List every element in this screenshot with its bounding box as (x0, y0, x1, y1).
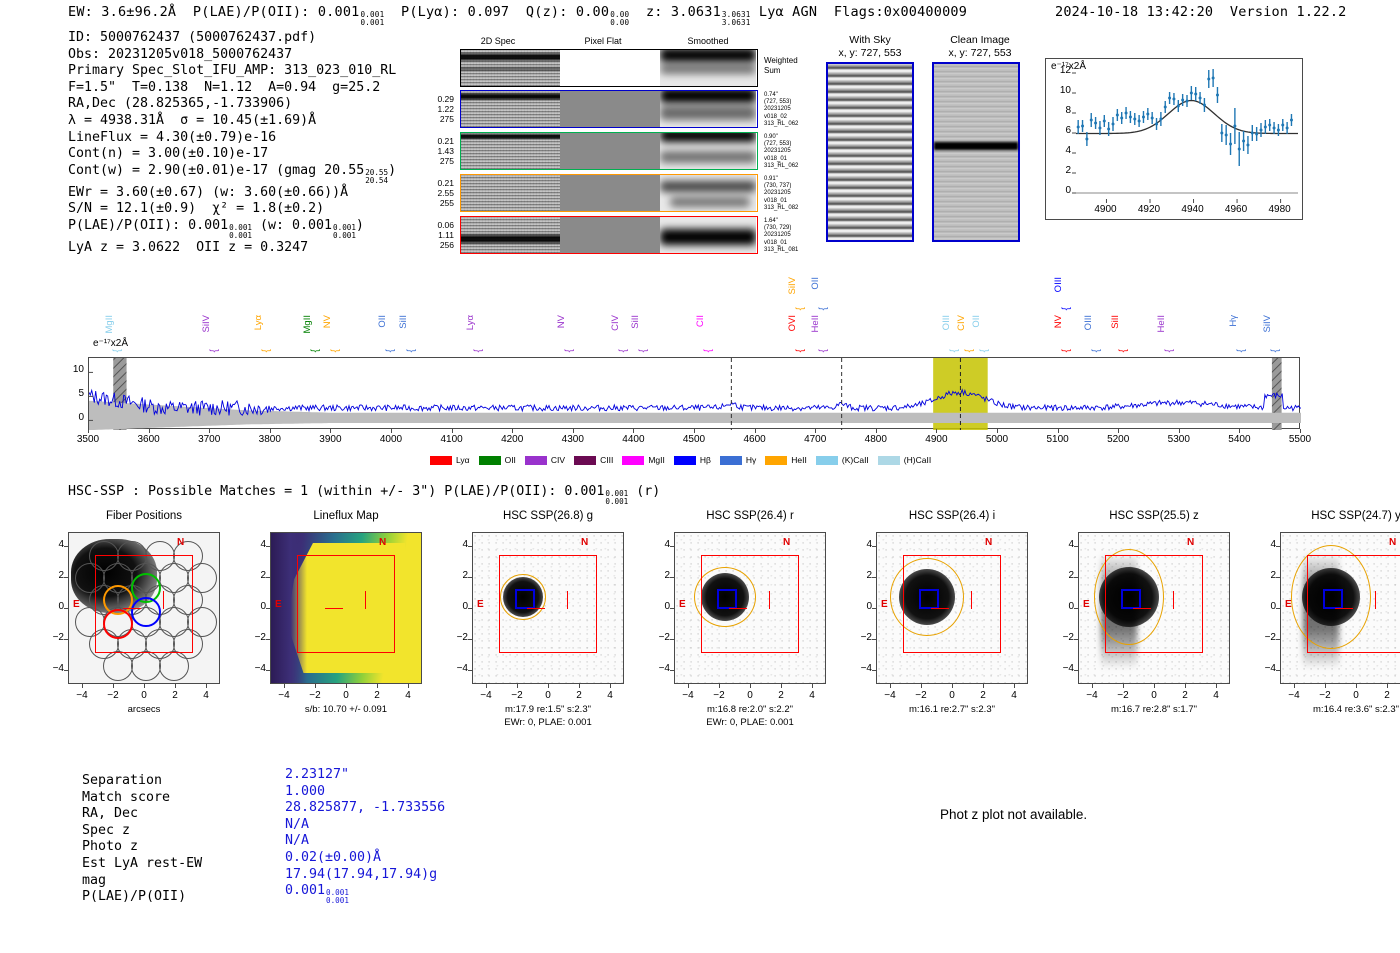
panel-2-ytickmark-2 (468, 577, 472, 578)
spectrum-xtick-5000: 5000 (972, 434, 1022, 445)
legend-swatch-0 (430, 456, 452, 465)
legend-label-6: Hγ (746, 455, 756, 465)
match-table-label-0: Separation (82, 773, 202, 790)
panel-caption-6: m:16.4 re:3.6" s:2.3" (1256, 704, 1400, 716)
panel-3-xtick-0: 0 (736, 690, 764, 701)
panel-5-ytick-0: 0 (1054, 601, 1074, 612)
panel-redtick-h-2 (527, 608, 545, 609)
legend-label-8: (K)CaII (842, 455, 869, 465)
emission-line-brace-4: { (330, 349, 341, 352)
panel-1-xtick--2: −2 (301, 690, 329, 701)
imaging-panel-6[interactable]: NE (1280, 532, 1400, 684)
match-table-value-0: 2.23127" (285, 767, 445, 784)
cutout-clean-image-title: Clean Imagex, y: 727, 553 (925, 34, 1035, 59)
zoom-ytick-4: 4 (1043, 145, 1071, 156)
panel-5-ytick--2: −2 (1054, 632, 1074, 643)
spectrum-xtick-4800: 4800 (851, 434, 901, 445)
emission-line-label-siii-6: SiII (398, 315, 409, 329)
spectrum-xtickmark-4300 (573, 429, 574, 433)
panel-title-2: HSC SSP(26.8) g (450, 510, 646, 522)
spectrum-xtick-5500: 5500 (1275, 434, 1325, 445)
info-plae-w-range: 0.0010.001 (333, 224, 356, 240)
spectrum-xtickmark-4800 (876, 429, 877, 433)
panel-5-xtickmark-4 (1216, 684, 1217, 688)
panel-4-xtickmark-2 (983, 684, 984, 688)
panel-1-ytick--2: −2 (246, 632, 266, 643)
match-table-value-2: 28.825877, -1.733556 (285, 800, 445, 817)
emission-line-label-oiii-21: OIII (1083, 315, 1094, 330)
hsc-ssp-header: HSC-SSP : Possible Matches = 1 (within +… (68, 484, 660, 506)
panel-6-xtickmark--2 (1325, 684, 1326, 688)
spectrum-xtickmark-5400 (1239, 429, 1240, 433)
legend-swatch-1 (479, 456, 501, 465)
spectrum-units-annotation: e⁻¹⁷x2Å (93, 338, 128, 349)
header-timestamp-block: 2024-10-18 13:42:20 Version 1.22.2 (1055, 4, 1346, 20)
panel-redtick-v-5 (1173, 591, 1174, 609)
legend-label-9: (H)CaII (904, 455, 931, 465)
emission-line-label-oii-18: OII (971, 315, 982, 328)
spectrum-xtick-4600: 4600 (730, 434, 780, 445)
panel-5-xtickmark--2 (1123, 684, 1124, 688)
spectrum-xtick-4200: 4200 (487, 434, 537, 445)
zoom-ytick-6: 6 (1043, 125, 1071, 136)
panel-redbox-0 (95, 555, 193, 653)
panel-redbox-2 (499, 555, 597, 653)
panel-1-xtickmark-2 (377, 684, 378, 688)
panel-2-ytickmark-0 (468, 608, 472, 609)
legend-swatch-5 (674, 456, 696, 465)
spec2d-col-title-pixelflat: Pixel Flat (553, 36, 653, 46)
info-lineflux: LineFlux = 4.30(±0.79)e-16 (68, 130, 396, 147)
emission-line-brace-20: { (1061, 349, 1072, 352)
panel-5-xtick-4: 4 (1202, 690, 1230, 701)
spec2d-row-2-meta: 0.91"(730, 737)20231205v018_01313_RL_082 (764, 176, 808, 212)
imaging-panel-5[interactable]: NE (1078, 532, 1230, 684)
panel-3-xtick--2: −2 (705, 690, 733, 701)
panel-0-xtickmark--4 (82, 684, 83, 688)
info-id: ID: 5000762437 (5000762437.pdf) (68, 30, 396, 47)
panel-6-xtickmark--4 (1294, 684, 1295, 688)
spectrum-xtick-3700: 3700 (184, 434, 234, 445)
panel-1-ytickmark-0 (266, 608, 270, 609)
panel-3-ytickmark-2 (670, 577, 674, 578)
emission-line-label-oiii-16: OIII (941, 315, 952, 330)
spec2d-row-2-values: 0.212.55255 (418, 178, 454, 208)
zoom-xtick-4920: 4920 (1127, 204, 1171, 215)
panel-0-xtick--2: −2 (99, 690, 127, 701)
emission-line-label-lyα-7: Lyα (465, 315, 476, 330)
panel-compass-e-2: E (477, 599, 484, 610)
panel-5-ytickmark-2 (1074, 577, 1078, 578)
fiber-circle-24 (159, 651, 189, 681)
panel-2-xtick-2: 2 (565, 690, 593, 701)
spectrum-xtickmark-4200 (512, 429, 513, 433)
panel-2-xtickmark-0 (548, 684, 549, 688)
panel-redtick-v-4 (971, 591, 972, 609)
spectrum-xtickmark-4700 (815, 429, 816, 433)
panel-6-xtick-2: 2 (1373, 690, 1400, 701)
panel-6-ytick--4: −4 (1256, 663, 1276, 674)
spec2d-row-2 (460, 174, 758, 212)
zoom-ytick-8: 8 (1043, 105, 1071, 116)
panel-5-ytick-4: 4 (1054, 539, 1074, 550)
header-qz-range: 0.000.00 (610, 11, 629, 27)
panel-caption2-2: EWr: 0, PLAE: 0.001 (448, 717, 648, 729)
panel-2-ytickmark--4 (468, 670, 472, 671)
spec2d-row-0-pixelflat (560, 91, 660, 127)
emission-line-zoom-plot[interactable]: e⁻¹⁷x2Å (1045, 58, 1303, 220)
header-plya: P(Lyα): 0.097 (401, 4, 509, 20)
panel-compass-n-3: N (783, 537, 790, 548)
info-ewr: EWr = 3.60(±0.67) (w: 3.60(±0.66))Å (68, 185, 396, 202)
panel-4-ytick-2: 2 (852, 570, 872, 581)
spec2d-ws-2dspec (461, 50, 560, 86)
spectrum-xtick-4000: 4000 (366, 434, 416, 445)
panel-5-ytickmark-0 (1074, 608, 1078, 609)
panel-2-xtickmark-2 (579, 684, 580, 688)
panel-caption-4: m:16.1 re:2.7" s:2.3" (852, 704, 1052, 716)
spec2d-row-0 (460, 90, 758, 128)
spec2d-row-2-smoothed (660, 175, 756, 211)
emission-line-label-siii-22: SiII (1110, 315, 1121, 329)
panel-0-ytickmark-4 (64, 546, 68, 547)
emission-line-label-heii-15: HeII (810, 315, 821, 332)
legend-item-h: Hγ (720, 455, 756, 465)
imaging-panel-1[interactable]: NE (270, 532, 422, 684)
imaging-panel-2[interactable]: NE (472, 532, 624, 684)
match-table-labels: SeparationMatch scoreRA, DecSpec zPhoto … (82, 773, 202, 906)
panel-3-xtickmark-0 (750, 684, 751, 688)
spec2d-row-2-2dspec (461, 175, 560, 211)
match-table-value-1: 1.000 (285, 784, 445, 801)
emission-line-label-lyα-2: Lyα (253, 315, 264, 330)
panel-5-ytick--4: −4 (1054, 663, 1074, 674)
legend-item-h: Hβ (674, 455, 711, 465)
spectrum-xtickmark-4100 (452, 429, 453, 433)
panel-compass-n-0: N (177, 537, 184, 548)
panel-redtick-h-4 (931, 608, 949, 609)
panel-6-ytickmark--2 (1276, 639, 1280, 640)
info-plae-poii: P(LAE)/P(OII): 0.0010.0010.001 (w: 0.001… (68, 218, 396, 240)
panel-2-ytick--2: −2 (448, 632, 468, 643)
panel-1-xtick-2: 2 (363, 690, 391, 701)
panel-1-ytickmark-4 (266, 546, 270, 547)
photz-not-available-note: Phot z plot not available. (940, 807, 1087, 822)
emission-line-brace-3: { (310, 349, 321, 352)
emission-line-brace-23: { (1164, 349, 1175, 352)
panel-2-ytickmark--2 (468, 639, 472, 640)
header-plae-poii: P(LAE)/P(OII): 0.001 (193, 4, 360, 20)
spectrum-xtickmark-4600 (755, 429, 756, 433)
emission-line-brace-12: { (795, 307, 806, 310)
spec2d-row-3-pixelflat (560, 217, 660, 253)
imaging-panel-3[interactable]: NE (674, 532, 826, 684)
panel-1-ytickmark--2 (266, 639, 270, 640)
panel-redbox-4 (903, 555, 1001, 653)
spectrum-ytick-10: 10 (60, 364, 84, 375)
panel-title-1: Lineflux Map (248, 510, 444, 522)
panel-4-ytick--2: −2 (852, 632, 872, 643)
panel-3-xtickmark--2 (719, 684, 720, 688)
legend-item-heii: HeII (765, 455, 807, 465)
emission-line-legend: LyαOIICIVCIIIMgIIHβHγHeII(K)CaII(H)CaII (430, 455, 940, 465)
emission-line-brace-17: { (964, 349, 975, 352)
header-plae-poii-range: 0.0010.001 (360, 11, 384, 27)
spec2d-row-0-smoothed (660, 91, 756, 127)
legend-item-kcaii: (K)CaII (816, 455, 869, 465)
panel-compass-e-6: E (1285, 599, 1292, 610)
panel-1-xtickmark--2 (315, 684, 316, 688)
panel-redtick-v-0 (163, 591, 164, 609)
panel-5-ytickmark-4 (1074, 546, 1078, 547)
panel-0-ytickmark-2 (64, 577, 68, 578)
legend-swatch-2 (525, 456, 547, 465)
match-table-label-2: RA, Dec (82, 806, 202, 823)
panel-6-ytickmark-0 (1276, 608, 1280, 609)
panel-1-xtick-4: 4 (394, 690, 422, 701)
spec2d-weighted-sum-row (460, 49, 758, 87)
legend-item-ciii: CIII (574, 455, 613, 465)
panel-5-xtickmark-0 (1154, 684, 1155, 688)
spec2d-row-3-2dspec (461, 217, 560, 253)
spectrum-xtick-4500: 4500 (669, 434, 719, 445)
panel-compass-n-6: N (1389, 537, 1396, 548)
panel-redtick-h-3 (729, 608, 747, 609)
panel-6-xtick-0: 0 (1342, 690, 1370, 701)
panel-1-ytick--4: −4 (246, 663, 266, 674)
panel-redtick-h-1 (325, 608, 343, 609)
emission-line-brace-1: { (209, 349, 220, 352)
panel-2-ytick-0: 0 (448, 601, 468, 612)
panel-redtick-h-0 (123, 608, 141, 609)
panel-1-xtick-0: 0 (332, 690, 360, 701)
header-qz: Q(z): 0.00 (526, 4, 609, 20)
match-table-label-7: P(LAE)/P(OII) (82, 889, 202, 906)
header-z: z: 3.0631 (646, 4, 721, 20)
spec2d-row-1-values: 0.211.43275 (418, 136, 454, 166)
emission-line-brace-10: { (638, 349, 649, 352)
legend-swatch-7 (765, 456, 787, 465)
panel-4-xtickmark--2 (921, 684, 922, 688)
spectrum-xtick-5400: 5400 (1214, 434, 1264, 445)
panel-2-ytick--4: −4 (448, 663, 468, 674)
panel-1-xtickmark-0 (346, 684, 347, 688)
spectrum-xtick-4400: 4400 (608, 434, 658, 445)
panel-6-xtick--2: −2 (1311, 690, 1339, 701)
panel-compass-e-4: E (881, 599, 888, 610)
panel-5-xtick--2: −2 (1109, 690, 1137, 701)
legend-swatch-8 (816, 456, 838, 465)
panel-compass-n-5: N (1187, 537, 1194, 548)
panel-1-ytick-2: 2 (246, 570, 266, 581)
panel-redtick-h-6 (1335, 608, 1353, 609)
zoom-ytick-10: 10 (1043, 85, 1071, 96)
panel-0-ytick-4: 4 (44, 539, 64, 550)
panel-3-ytickmark-0 (670, 608, 674, 609)
info-snr-chi2: S/N = 12.1(±0.9) χ² = 1.8(±0.2) (68, 201, 396, 218)
spectrum-xtick-4900: 4900 (911, 434, 961, 445)
panel-6-xtickmark-2 (1387, 684, 1388, 688)
panel-3-xtick--4: −4 (674, 690, 702, 701)
emission-line-label-siiv-25: SiIV (1262, 315, 1273, 332)
zoom-xtick-4980: 4980 (1258, 204, 1302, 215)
emission-line-label-nv-20: NV (1053, 315, 1064, 328)
panel-0-ytick--4: −4 (44, 663, 64, 674)
panel-0-xtickmark-0 (144, 684, 145, 688)
emission-line-brace-21: { (1091, 349, 1102, 352)
panel-4-ytickmark--2 (872, 639, 876, 640)
panel-4-xtick-2: 2 (969, 690, 997, 701)
fiber-circle-23 (131, 651, 161, 681)
header-timestamp: 2024-10-18 13:42:20 (1055, 4, 1213, 20)
spectrum-xtick-3900: 3900 (305, 434, 355, 445)
legend-label-3: CIII (600, 455, 613, 465)
spec2d-weighted-sum-label: WeightedSum (764, 56, 804, 75)
info-seeing-params: F=1.5" T=0.138 N=1.12 A=0.94 g=25.2 (68, 80, 396, 97)
spec2d-row-0-values: 0.291.22275 (418, 94, 454, 124)
panel-5-ytick-2: 2 (1054, 570, 1074, 581)
panel-caption-1: s/b: 10.70 +/- 0.091 (246, 704, 446, 716)
info-plae-range: 0.0010.001 (229, 224, 252, 240)
imaging-panel-4[interactable]: NE (876, 532, 1028, 684)
imaging-panel-0[interactable]: NE (68, 532, 220, 684)
info-wavelength-sigma: λ = 4938.31Å σ = 10.45(±1.69)Å (68, 113, 396, 130)
panel-caption-0: arcsecs (44, 704, 244, 716)
spec2d-col-title-smoothed: Smoothed (658, 36, 758, 46)
panel-4-ytickmark--4 (872, 670, 876, 671)
panel-redtick-v-2 (567, 591, 568, 609)
panel-redbox-3 (701, 555, 799, 653)
panel-redbox-6 (1307, 555, 1400, 653)
panel-6-ytickmark--4 (1276, 670, 1280, 671)
spectrum-xtickmark-3800 (270, 429, 271, 433)
spec2d-row-1-meta: 0.90"(727, 553)20231205v018_01313_RL_062 (764, 134, 808, 170)
panel-redtick-v-3 (769, 591, 770, 609)
full-spectrum-plot[interactable]: e⁻¹⁷x2Å (88, 357, 1300, 429)
header-z-range: 3.06313.0631 (722, 11, 751, 27)
panel-caption-5: m:16.7 re:2.8" s:1.7" (1054, 704, 1254, 716)
emission-line-brace-0: { (112, 349, 123, 352)
spec2d-row-3-values: 0.061.11256 (418, 220, 454, 250)
panel-3-xtickmark-2 (781, 684, 782, 688)
match-table-plae-lo: 0.001 (326, 897, 349, 905)
legend-label-1: OII (505, 455, 516, 465)
spec2d-panel: 2D Spec Pixel Flat Smoothed WeightedSum … (420, 36, 760, 251)
spectrum-xtick-5300: 5300 (1154, 434, 1204, 445)
emission-line-label-mgii-3: MgII (302, 315, 313, 333)
panel-2-xtick-0: 0 (534, 690, 562, 701)
spec2d-col-title-2dspec: 2D Spec (448, 36, 548, 46)
legend-item-hcaii: (H)CaII (878, 455, 931, 465)
panel-4-ytick-4: 4 (852, 539, 872, 550)
panel-4-xtick-4: 4 (1000, 690, 1028, 701)
spec2d-row-3-smoothed (660, 217, 756, 253)
match-table-value-4: N/A (285, 833, 445, 850)
emission-line-label-mgii-0: MgII (104, 315, 115, 333)
panel-2-xtick--4: −4 (472, 690, 500, 701)
panel-2-xtick-4: 4 (596, 690, 624, 701)
spectrum-xtickmark-4500 (694, 429, 695, 433)
emission-line-label-siiv-1: SiIV (201, 315, 212, 332)
legend-item-ly: Lyα (430, 455, 470, 465)
panel-0-xtick-2: 2 (161, 690, 189, 701)
spectrum-xtick-4300: 4300 (548, 434, 598, 445)
legend-label-0: Lyα (456, 455, 470, 465)
fiber-circle-22 (103, 651, 133, 681)
panel-1-xtick--4: −4 (270, 690, 298, 701)
panel-2-xtick--2: −2 (503, 690, 531, 701)
spectrum-xtickmark-5300 (1179, 429, 1180, 433)
panel-title-5: HSC SSP(25.5) z (1056, 510, 1252, 522)
panel-title-3: HSC SSP(26.4) r (652, 510, 848, 522)
match-table-values: 2.23127"1.00028.825877, -1.733556N/AN/A0… (285, 767, 445, 905)
legend-swatch-4 (622, 456, 644, 465)
emission-line-label-cii-11: CII (695, 315, 706, 327)
emission-line-label-civ-9: CIV (610, 315, 621, 331)
panel-3-ytickmark-4 (670, 546, 674, 547)
spectrum-xtickmark-5100 (1058, 429, 1059, 433)
emission-line-brace-9: { (618, 349, 629, 352)
panel-2-xtickmark--4 (486, 684, 487, 688)
panel-3-ytick-4: 4 (650, 539, 670, 550)
emission-line-brace-5: { (385, 349, 396, 352)
panel-0-ytickmark-0 (64, 608, 68, 609)
spec2d-row-3-meta: 1.64"(730, 729)20231205v018_01313_RL_081 (764, 218, 808, 254)
panel-4-xtick-0: 0 (938, 690, 966, 701)
panel-5-xtickmark-2 (1185, 684, 1186, 688)
header-summary-line: EW: 3.6±96.2Å P(LAE)/P(OII): 0.0010.0010… (68, 4, 967, 27)
info-redshifts: LyA z = 3.0622 OII z = 0.3247 (68, 240, 396, 257)
panel-redbox-1 (297, 555, 395, 653)
panel-4-ytickmark-2 (872, 577, 876, 578)
emission-line-label-nv-8: NV (556, 315, 567, 328)
match-table-plae-range: 0.0010.001 (326, 889, 349, 905)
panel-1-ytick-4: 4 (246, 539, 266, 550)
match-table-value-3: N/A (285, 817, 445, 834)
info-gmag-range: 20.5520.54 (365, 169, 388, 185)
panel-5-xtickmark--4 (1092, 684, 1093, 688)
hsc-header-plae-range: 0.0010.001 (605, 490, 628, 506)
panel-2-ytickmark-4 (468, 546, 472, 547)
cutout-clean-image[interactable] (932, 62, 1020, 242)
emission-line-zoom-svg (1046, 59, 1304, 221)
panel-title-6: HSC SSP(24.7) y (1258, 510, 1400, 522)
emission-line-brace-22: { (1118, 349, 1129, 352)
spec2d-row-0-2dspec (461, 91, 560, 127)
panel-2-ytick-2: 2 (448, 570, 468, 581)
spec2d-row-1 (460, 132, 758, 170)
panel-6-ytick--2: −2 (1256, 632, 1276, 643)
spectrum-xtick-4100: 4100 (427, 434, 477, 445)
panel-compass-e-0: E (73, 599, 80, 610)
panel-6-ytickmark-2 (1276, 577, 1280, 578)
spectrum-xtickmark-5500 (1300, 429, 1301, 433)
legend-label-7: HeII (791, 455, 807, 465)
match-table-label-5: Est LyA rest-EW (82, 856, 202, 873)
cutout-with-sky-image[interactable] (826, 62, 914, 242)
panel-compass-n-2: N (581, 537, 588, 548)
emission-line-brace-8: { (564, 349, 575, 352)
detection-info-block: ID: 5000762437 (5000762437.pdf) Obs: 202… (68, 30, 396, 257)
emission-line-label-civ-17: CIV (956, 315, 967, 331)
panel-2-ytick-4: 4 (448, 539, 468, 550)
zoom-ytick-2: 2 (1043, 165, 1071, 176)
panel-4-xtick--4: −4 (876, 690, 904, 701)
info-primary-spec-slot: Primary Spec_Slot_IFU_AMP: 313_023_010_R… (68, 63, 396, 80)
spec2d-row-3 (460, 216, 758, 254)
panel-caption-2: m:17.9 re:1.5" s:2.3" (448, 704, 648, 716)
panel-5-xtick-0: 0 (1140, 690, 1168, 701)
